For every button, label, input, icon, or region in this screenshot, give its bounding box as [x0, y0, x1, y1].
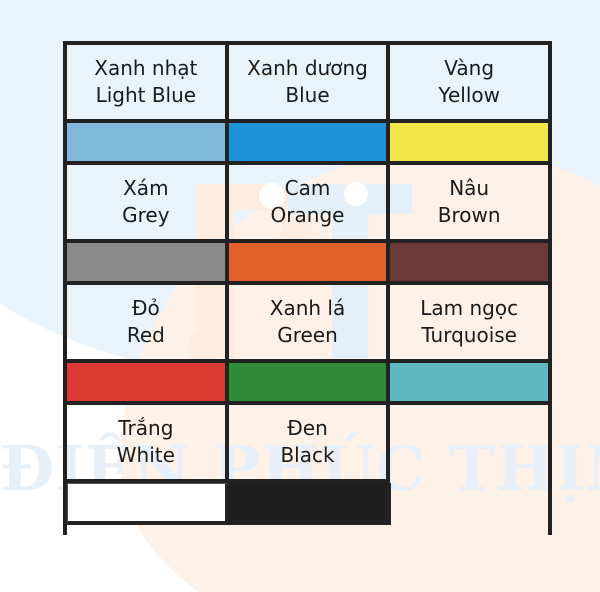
color-label-cell: Đen Black	[229, 405, 391, 483]
color-name-vn: Xanh nhạt	[94, 55, 197, 82]
color-name-en: Turquoise	[421, 322, 517, 349]
color-label-cell: Lam ngọc Turquoise	[390, 285, 548, 363]
color-name-vn: Lam ngọc	[420, 295, 518, 322]
color-swatch-brown	[390, 243, 548, 285]
color-label-cell: Xanh dương Blue	[229, 45, 391, 123]
color-name-en: Red	[127, 322, 165, 349]
color-name-vn: Trắng	[118, 415, 173, 442]
color-name-en: Green	[277, 322, 338, 349]
color-label-cell: Vàng Yellow	[390, 45, 548, 123]
color-group-row: Trắng White Đen Black	[67, 405, 548, 525]
label-row: Đỏ Red Xanh lá Green Lam ngọc Turquoise	[67, 285, 548, 363]
empty-label-cell	[390, 405, 548, 483]
color-name-en: Black	[280, 442, 334, 469]
color-name-vn: Xanh lá	[270, 295, 345, 322]
color-label-cell: Đỏ Red	[67, 285, 229, 363]
color-swatch-white	[67, 483, 229, 525]
color-swatch-light-blue	[67, 123, 229, 165]
color-swatch-turquoise	[390, 363, 548, 405]
color-label-cell: Xanh nhạt Light Blue	[67, 45, 229, 123]
label-row: Xám Grey Cam Orange Nâu Brown	[67, 165, 548, 243]
color-swatch-orange	[229, 243, 391, 285]
swatch-row	[67, 243, 548, 285]
color-group-row: Đỏ Red Xanh lá Green Lam ngọc Turquoise	[67, 285, 548, 405]
color-swatch-blue	[229, 123, 391, 165]
color-name-en: Yellow	[438, 82, 500, 109]
color-label-cell: Nâu Brown	[390, 165, 548, 243]
color-name-en: Grey	[122, 202, 169, 229]
color-name-en: White	[117, 442, 175, 469]
swatch-row	[67, 123, 548, 165]
label-row: Trắng White Đen Black	[67, 405, 548, 483]
color-label-cell: Xám Grey	[67, 165, 229, 243]
color-name-en: Orange	[271, 202, 345, 229]
color-name-vn: Xám	[123, 175, 168, 202]
empty-swatch-cell	[391, 483, 548, 525]
color-group-row: Xanh nhạt Light Blue Xanh dương Blue Vàn…	[67, 45, 548, 165]
color-swatch-red	[67, 363, 229, 405]
color-name-en: Brown	[438, 202, 501, 229]
color-name-vn: Đỏ	[132, 295, 160, 322]
color-name-vn: Xanh dương	[247, 55, 368, 82]
color-name-vn: Vàng	[444, 55, 494, 82]
color-name-vn: Nâu	[449, 175, 489, 202]
color-label-cell: Xanh lá Green	[229, 285, 391, 363]
swatch-row	[67, 363, 548, 405]
color-group-row: Xám Grey Cam Orange Nâu Brown	[67, 165, 548, 285]
color-swatch-grey	[67, 243, 229, 285]
color-swatch-black	[229, 483, 390, 525]
color-chart-table: Xanh nhạt Light Blue Xanh dương Blue Vàn…	[63, 41, 552, 535]
swatch-row	[67, 483, 548, 525]
color-label-cell: Trắng White	[67, 405, 229, 483]
color-swatch-green	[229, 363, 391, 405]
label-row: Xanh nhạt Light Blue Xanh dương Blue Vàn…	[67, 45, 548, 123]
color-name-vn: Cam	[285, 175, 331, 202]
color-name-en: Light Blue	[96, 82, 197, 109]
color-swatch-yellow	[390, 123, 548, 165]
color-name-en: Blue	[285, 82, 329, 109]
color-name-vn: Đen	[287, 415, 327, 442]
color-label-cell: Cam Orange	[229, 165, 391, 243]
